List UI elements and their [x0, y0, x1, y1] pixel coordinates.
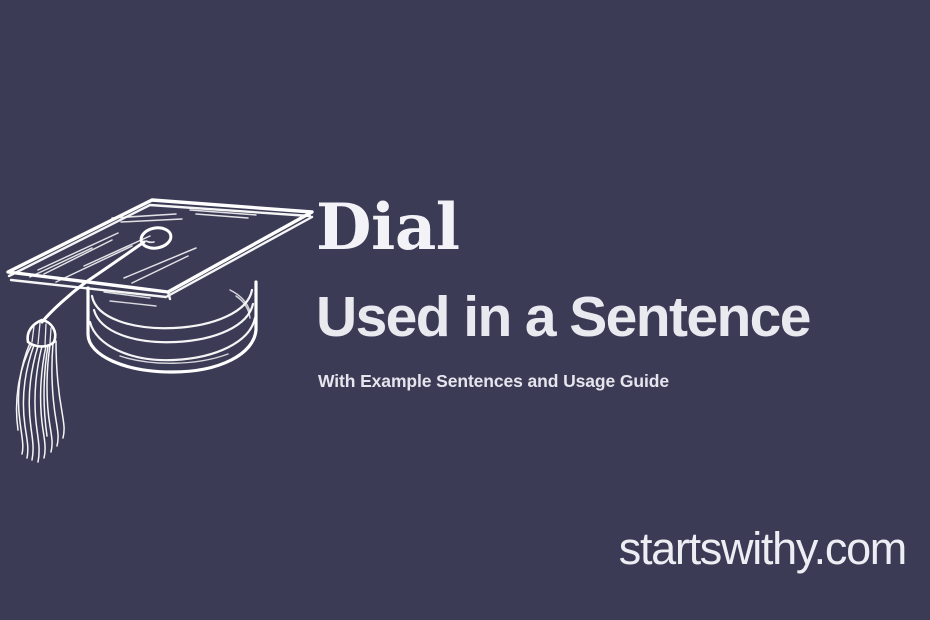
page-title: Used in a Sentence	[316, 288, 810, 348]
share-card: Dial Used in a Sentence With Example Sen…	[0, 0, 930, 620]
brand-wordmark: startswithy.com	[619, 524, 906, 574]
page-subtitle: With Example Sentences and Usage Guide	[318, 371, 669, 392]
graduation-cap-sketch-icon	[0, 170, 320, 470]
word-title: Dial	[316, 196, 460, 260]
